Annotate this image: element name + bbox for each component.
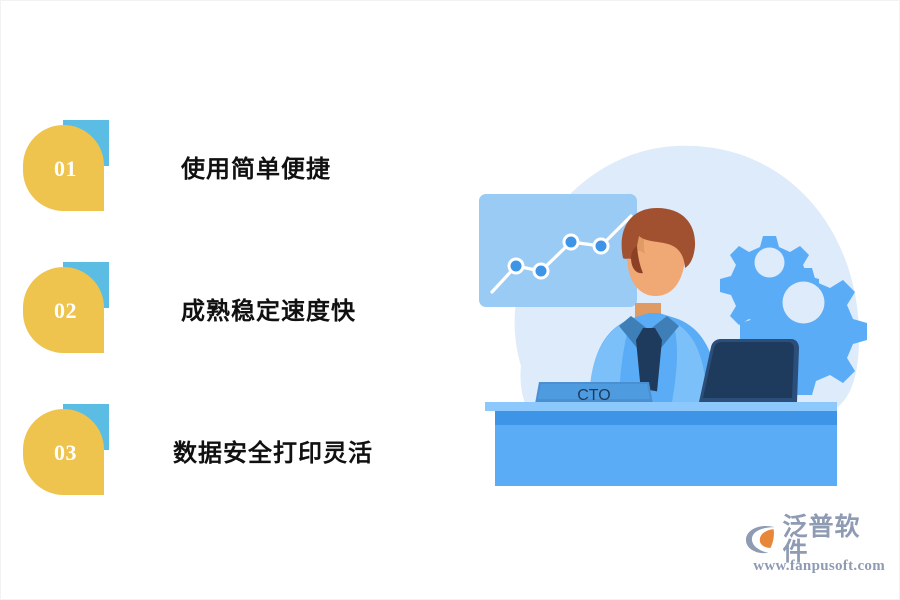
badge-number-1: 01 xyxy=(50,156,77,180)
logo-top-row: 泛普软件 xyxy=(745,521,885,557)
nameplate: CTO xyxy=(535,382,653,404)
feature-list: 01 使用简单便捷 02 成熟稳定速度快 03 数据安全打印灵活 xyxy=(1,1,461,600)
feature-label-1: 使用简单便捷 xyxy=(181,120,331,212)
logo-brand-name: 泛普软件 xyxy=(783,514,886,564)
feature-badge-3: 03 xyxy=(23,404,109,496)
badge-yellow-shape-1: 01 xyxy=(23,125,104,211)
feature-item-2[interactable]: 02 成熟稳定速度快 xyxy=(1,262,461,358)
badge-number-2: 02 xyxy=(50,298,77,322)
badge-yellow-shape-3: 03 xyxy=(23,409,104,495)
desk-top xyxy=(485,402,837,411)
fanpu-swoosh-icon xyxy=(745,523,779,555)
feature-item-3[interactable]: 03 数据安全打印灵活 xyxy=(1,404,461,500)
logo-url: www.fanpusoft.com xyxy=(745,558,885,575)
nameplate-label: CTO xyxy=(577,387,610,404)
laptop-screen-inner xyxy=(703,342,794,398)
slide-canvas: 01 使用简单便捷 02 成熟稳定速度快 03 数据安全打印灵活 xyxy=(0,0,900,600)
illustration-cto-at-desk: CTO xyxy=(461,96,881,496)
chart-panel xyxy=(479,194,637,307)
feature-badge-2: 02 xyxy=(23,262,109,354)
chart-dot xyxy=(534,264,548,278)
chart-dot xyxy=(509,259,523,273)
feature-badge-1: 01 xyxy=(23,120,109,212)
feature-label-2: 成熟稳定速度快 xyxy=(181,262,356,354)
brand-logo-watermark: 泛普软件 www.fanpusoft.com xyxy=(745,521,885,585)
chart-dot xyxy=(594,239,608,253)
badge-number-3: 03 xyxy=(50,440,77,464)
chart-dot xyxy=(564,235,578,249)
badge-yellow-shape-2: 02 xyxy=(23,267,104,353)
feature-item-1[interactable]: 01 使用简单便捷 xyxy=(1,120,461,216)
feature-label-3: 数据安全打印灵活 xyxy=(173,404,373,496)
desk-front xyxy=(495,425,837,486)
desk-band xyxy=(495,411,837,425)
desk xyxy=(485,402,837,486)
